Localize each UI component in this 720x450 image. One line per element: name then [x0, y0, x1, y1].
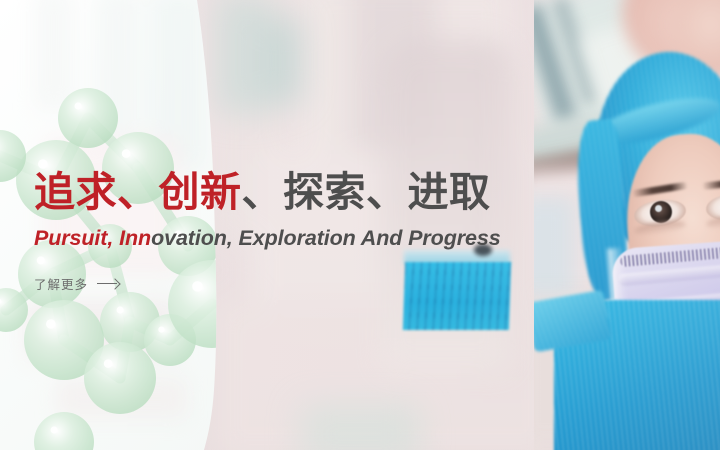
- arrow-right-icon: [97, 279, 119, 289]
- hero-copy: 追求、创新、探索、进取 Pursuit, Innovation, Explora…: [0, 0, 720, 450]
- page-title: 追求、创新、探索、进取: [34, 172, 491, 213]
- learn-more-link[interactable]: 了解更多: [34, 274, 119, 293]
- learn-more-label: 了解更多: [34, 274, 88, 293]
- hero-banner: 追求、创新、探索、进取 Pursuit, Innovation, Explora…: [0, 0, 720, 450]
- page-subtitle: Pursuit, Innovation, Exploration And Pro…: [34, 228, 501, 250]
- subtitle-grey-segment: ovation, Exploration And Progress: [151, 226, 501, 250]
- subtitle-red-segment: Pursuit, Inn: [34, 226, 151, 250]
- headline-grey-segment: 、探索、进取: [242, 169, 491, 215]
- headline-red-segment: 追求、创新: [34, 169, 242, 215]
